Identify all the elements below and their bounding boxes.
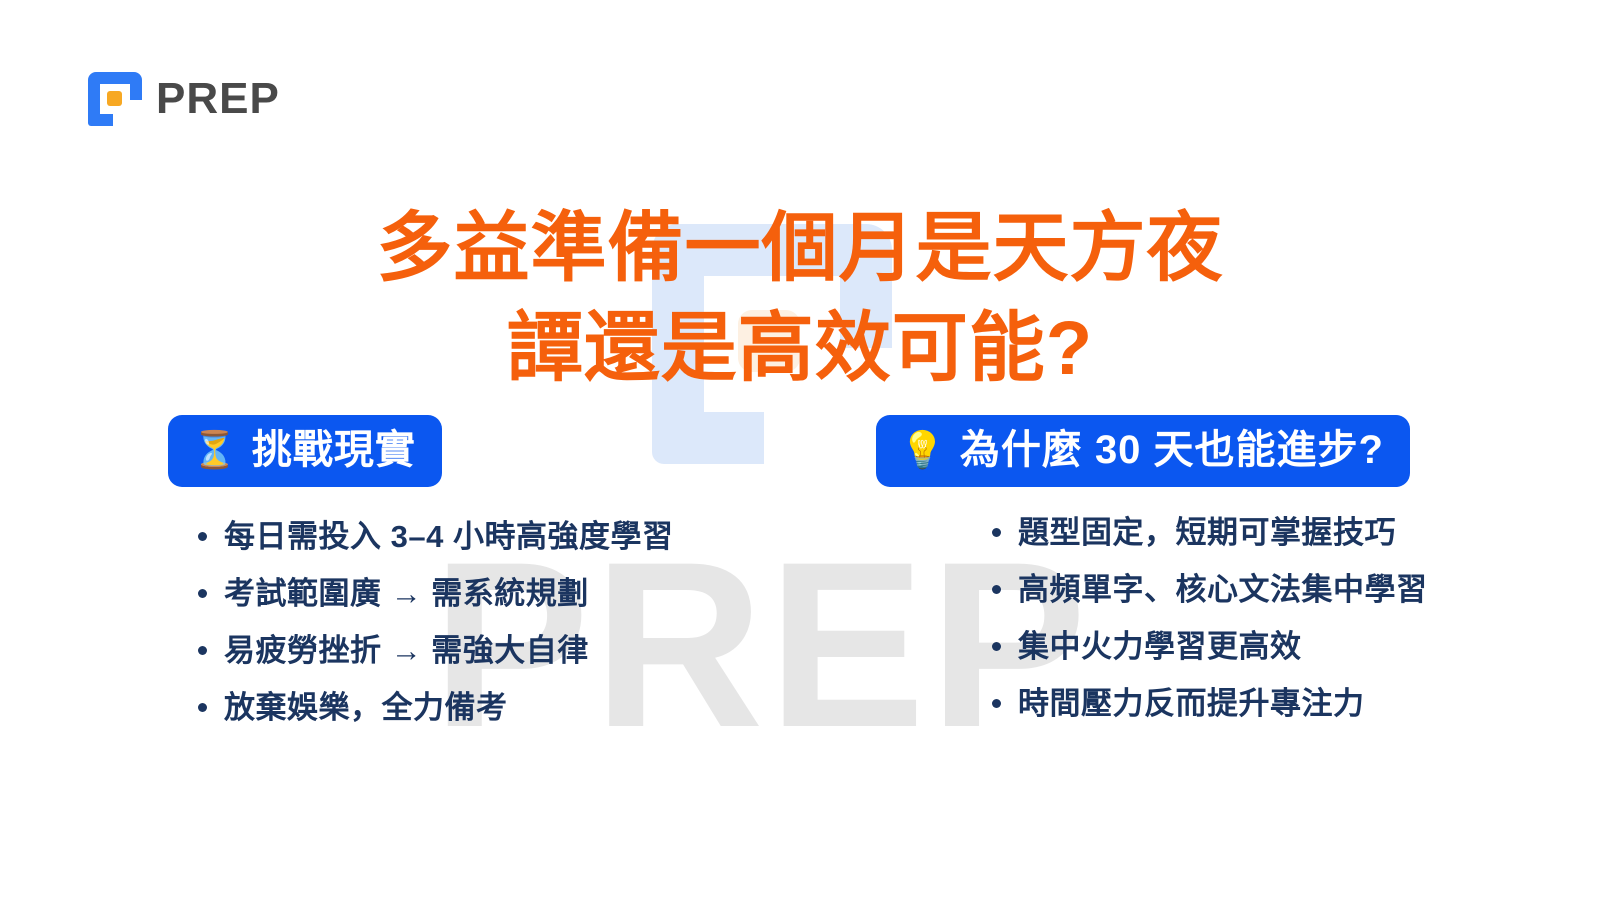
list-item: 集中火力學習更高效	[974, 631, 1496, 662]
brand-wordmark: PREP	[156, 77, 280, 121]
logo-mark-accent-square	[107, 91, 122, 106]
list-item: 題型固定，短期可掌握技巧	[974, 517, 1496, 548]
logo-mark-stem	[88, 99, 100, 126]
page-title-line-1: 多益準備一個月是天方夜	[0, 199, 1600, 299]
lightbulb-icon: 💡	[900, 432, 946, 468]
badge-challenge-reality-label: 挑戰現實	[252, 427, 416, 473]
page-title: 多益準備一個月是天方夜 譚還是高效可能?	[0, 199, 1600, 400]
prep-logo-mark-icon	[88, 72, 142, 126]
hourglass-icon: ⏳	[192, 432, 238, 468]
column-why-possible: 💡 為什麼 30 天也能進步? 題型固定，短期可掌握技巧 高頻單字、核心文法集中…	[876, 415, 1496, 745]
badge-why-30-days: 💡 為什麼 30 天也能進步?	[876, 415, 1410, 487]
badge-why-30-days-label: 為什麼 30 天也能進步?	[960, 427, 1384, 473]
column-challenges: ⏳ 挑戰現實 每日需投入 3–4 小時高強度學習 考試範圍廣 → 需系統規劃 易…	[168, 415, 828, 749]
challenges-list: 每日需投入 3–4 小時高強度學習 考試範圍廣 → 需系統規劃 易疲勞挫折 → …	[180, 521, 828, 723]
list-item: 考試範圍廣 → 需系統規劃	[180, 578, 828, 609]
list-item: 放棄娛樂，全力備考	[180, 692, 828, 723]
page-title-line-2: 譚還是高效可能?	[0, 299, 1600, 399]
list-item: 易疲勞挫折 → 需強大自律	[180, 635, 828, 666]
list-item: 高頻單字、核心文法集中學習	[974, 574, 1496, 605]
list-item: 每日需投入 3–4 小時高強度學習	[180, 521, 828, 552]
slide-canvas: PREP PREP 多益準備一個月是天方夜 譚還是高效可能? ⏳ 挑戰現實 每日…	[0, 0, 1600, 900]
brand-logo: PREP	[88, 72, 280, 126]
list-item: 時間壓力反而提升專注力	[974, 688, 1496, 719]
badge-challenge-reality: ⏳ 挑戰現實	[168, 415, 442, 487]
why-possible-list: 題型固定，短期可掌握技巧 高頻單字、核心文法集中學習 集中火力學習更高效 時間壓…	[974, 517, 1496, 719]
